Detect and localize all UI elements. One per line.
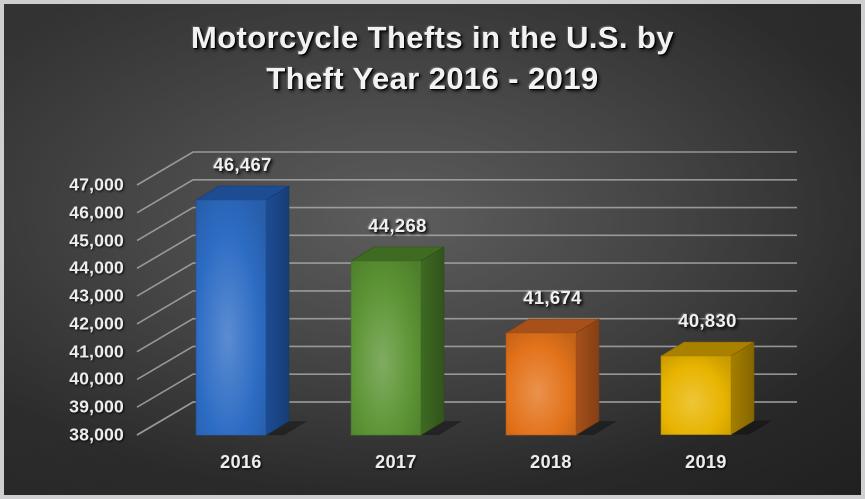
bar-value-label-2016: 46,467 bbox=[213, 154, 271, 176]
bar-2016[interactable] bbox=[192, 182, 325, 475]
bar-side-face bbox=[576, 319, 599, 435]
bar-2018[interactable] bbox=[502, 315, 635, 475]
bar-side-face bbox=[421, 247, 444, 435]
bar-front-face bbox=[661, 356, 731, 435]
bar-front-face bbox=[196, 200, 266, 435]
chart-title: Motorcycle Thefts in the U.S. by Theft Y… bbox=[0, 18, 865, 100]
bar-value-label-2019: 40,830 bbox=[678, 310, 736, 332]
bar-side-face bbox=[731, 342, 754, 435]
bar-front-face bbox=[351, 261, 421, 435]
x-axis-tick-label-2017: 2017 bbox=[375, 452, 417, 473]
bar-value-label-2017: 44,268 bbox=[368, 215, 426, 237]
bar-front-face bbox=[506, 333, 576, 435]
x-axis-tick-label-2018: 2018 bbox=[530, 452, 572, 473]
chart-title-line-1: Motorcycle Thefts in the U.S. by bbox=[0, 18, 865, 59]
x-axis-tick-label-2016: 2016 bbox=[220, 452, 262, 473]
bar-value-label-2018: 41,674 bbox=[523, 287, 581, 309]
x-axis-tick-label-2019: 2019 bbox=[685, 452, 727, 473]
chart-container: Motorcycle Thefts in the U.S. by Theft Y… bbox=[0, 0, 865, 499]
bar-2017[interactable] bbox=[347, 243, 480, 475]
chart-title-line-2: Theft Year 2016 - 2019 bbox=[0, 59, 865, 100]
bar-side-face bbox=[266, 186, 289, 435]
